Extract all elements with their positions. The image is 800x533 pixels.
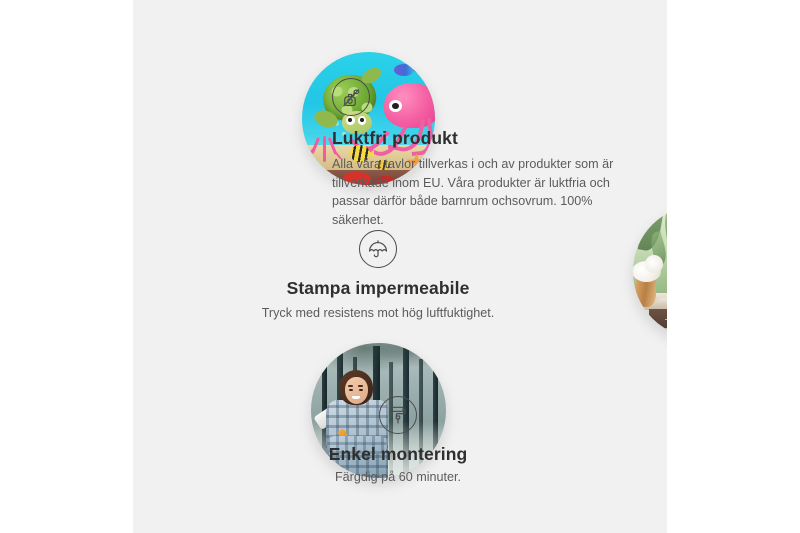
leaf-motif xyxy=(662,206,667,244)
feature-title: Luktfri produkt xyxy=(332,128,626,149)
feature-body: Tryck med resistens mot hög luftfuktighe… xyxy=(213,304,543,323)
drawer-handle xyxy=(665,328,667,329)
feature-block-odourless: Luktfri produkt Alla våra tavlor tillver… xyxy=(332,78,626,230)
forest-canopy xyxy=(311,343,446,394)
bathroom-botanical-wallpaper-photo xyxy=(633,205,667,338)
drawer-handle xyxy=(665,319,667,320)
features-panel: Luktfri produkt Alla våra tavlor tillver… xyxy=(133,0,667,533)
bathroom-vanity-cabinet xyxy=(649,309,667,338)
page-root: Luktfri produkt Alla våra tavlor tillver… xyxy=(0,0,800,533)
feature-body: Alla våra tavlor tillverkas i och av pro… xyxy=(332,155,626,230)
feature-block-waterproof: Stampa impermeabile Tryck med resistens … xyxy=(213,230,543,323)
feature-title: Stampa impermeabile xyxy=(213,278,543,299)
white-flowers xyxy=(633,261,661,282)
paint-roller-icon xyxy=(379,396,417,434)
no-scent-perfume-icon xyxy=(332,78,370,116)
blue-fish-illustration xyxy=(394,64,414,76)
feature-block-easy-install: Enkel montering Färgdig på 60 minuter. xyxy=(278,396,518,487)
umbrella-icon xyxy=(359,230,397,268)
feature-title: Enkel montering xyxy=(278,444,518,465)
feature-body: Färgdig på 60 minuter. xyxy=(278,468,518,487)
